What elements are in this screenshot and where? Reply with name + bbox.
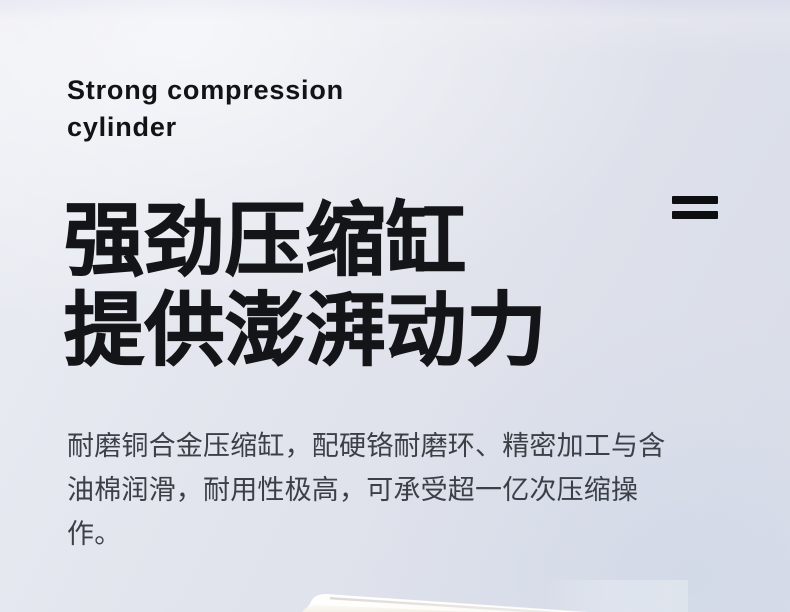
equals-bar-top [672, 196, 718, 204]
hero-body-copy: 耐磨铜合金压缩缸，配硬铬耐磨环、精密加工与含油棉润滑，耐用性极高，可承受超一亿次… [67, 424, 689, 556]
hero-headline: 强劲压缩缸 提供澎湃动力 [64, 196, 547, 376]
equals-bar-bottom [672, 211, 718, 219]
air-pump-body-edge [296, 580, 688, 612]
hero-banner: Strong compression cylinder 强劲压缩缸 提供澎湃动力… [0, 0, 790, 612]
hero-eyebrow: Strong compression cylinder [67, 72, 497, 146]
equals-mark-icon [672, 196, 718, 219]
